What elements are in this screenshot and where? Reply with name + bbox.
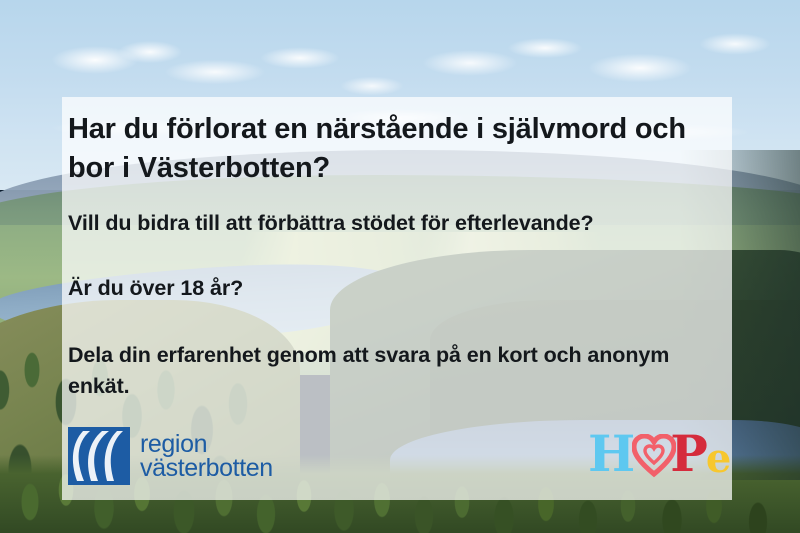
region-vasterbotten-logo: region västerbotten	[68, 427, 273, 485]
question-age: Är du över 18 år?	[68, 275, 718, 303]
hope-logo: H P e	[588, 429, 731, 479]
region-vasterbotten-wave-mark	[68, 427, 130, 485]
call-to-action-text: Dela din erfarenhet genom att svara på e…	[68, 340, 708, 402]
region-vasterbotten-wordmark: region västerbotten	[140, 432, 273, 480]
hope-letter-p: P	[670, 429, 708, 479]
hope-letter-h: H	[588, 429, 635, 479]
logo-line-vasterbotten: västerbotten	[140, 456, 273, 480]
question-contribute: Vill du bidra till att förbättra stödet …	[68, 210, 718, 238]
logo-line-region: region	[140, 432, 273, 456]
hope-letter-e: e	[706, 439, 731, 479]
page-title: Har du förlorat en närstående i självmor…	[68, 110, 718, 187]
poster: Har du förlorat en närstående i självmor…	[0, 0, 800, 533]
